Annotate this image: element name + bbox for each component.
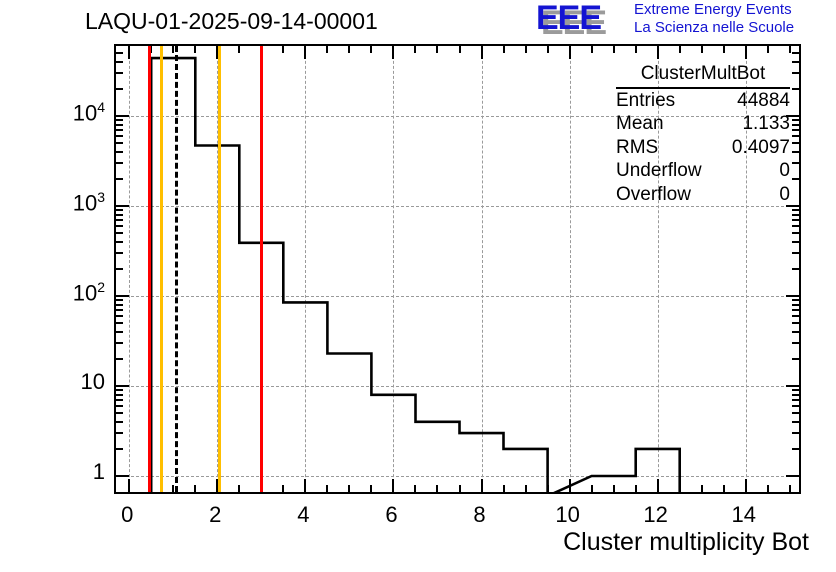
eee-logo-line2: La Scienza nelle Scuole — [634, 19, 794, 37]
stats-row-value: 1.133 — [742, 112, 790, 136]
marker-line-orange-high — [218, 46, 221, 492]
stats-row-value: 0 — [779, 159, 790, 183]
marker-line-red-low — [148, 46, 151, 492]
y-tick-label: 1 — [93, 459, 105, 485]
eee-logo: EEE EEE Extreme Energy Events La Scienza… — [536, 1, 834, 37]
y-tick-label: 104 — [73, 99, 105, 126]
stats-row-key: RMS — [616, 136, 664, 160]
x-tick-label: 2 — [195, 502, 235, 528]
stats-row-key: Overflow — [616, 183, 697, 207]
stats-row-key: Mean — [616, 112, 670, 136]
stats-row-value: 0.4097 — [732, 136, 790, 160]
x-axis-title: Cluster multiplicity Bot — [563, 528, 809, 557]
stats-row: Underflow0 — [616, 159, 790, 183]
marker-line-red-high — [260, 46, 263, 492]
stats-row-key: Underflow — [616, 159, 708, 183]
stats-box-rows: Entries44884Mean1.133RMS0.4097Underflow0… — [616, 89, 790, 207]
x-tick-label: 10 — [548, 502, 588, 528]
x-tick-label: 14 — [724, 502, 764, 528]
x-tick-label: 8 — [460, 502, 500, 528]
stats-row: Overflow0 — [616, 183, 790, 207]
stats-row-key: Entries — [616, 89, 681, 113]
eee-logo-text: Extreme Energy Events La Scienza nelle S… — [634, 1, 794, 37]
stats-row: Entries44884 — [616, 89, 790, 113]
stats-box: ClusterMultBot Entries44884Mean1.133RMS0… — [616, 62, 790, 206]
stats-box-title: ClusterMultBot — [616, 62, 790, 89]
x-tick-label: 4 — [283, 502, 323, 528]
stats-row-value: 0 — [779, 183, 790, 207]
x-tick-label: 0 — [107, 502, 147, 528]
stats-row: Mean1.133 — [616, 112, 790, 136]
eee-logo-mark: EEE EEE — [536, 3, 628, 35]
stats-row-value: 44884 — [737, 89, 790, 113]
y-tick-label: 103 — [73, 189, 105, 216]
stats-row: RMS0.4097 — [616, 136, 790, 160]
y-tick-label: 102 — [73, 279, 105, 306]
eee-logo-line1: Extreme Energy Events — [634, 1, 794, 19]
eee-logo-mark-front: EEE — [536, 3, 628, 35]
marker-line-mean-dashed — [175, 46, 178, 492]
x-tick-label: 6 — [371, 502, 411, 528]
marker-line-orange-low — [160, 46, 163, 492]
x-tick-label: 12 — [636, 502, 676, 528]
page-title: LAQU-01-2025-09-14-00001 — [85, 8, 378, 35]
y-tick-label: 10 — [81, 369, 105, 395]
